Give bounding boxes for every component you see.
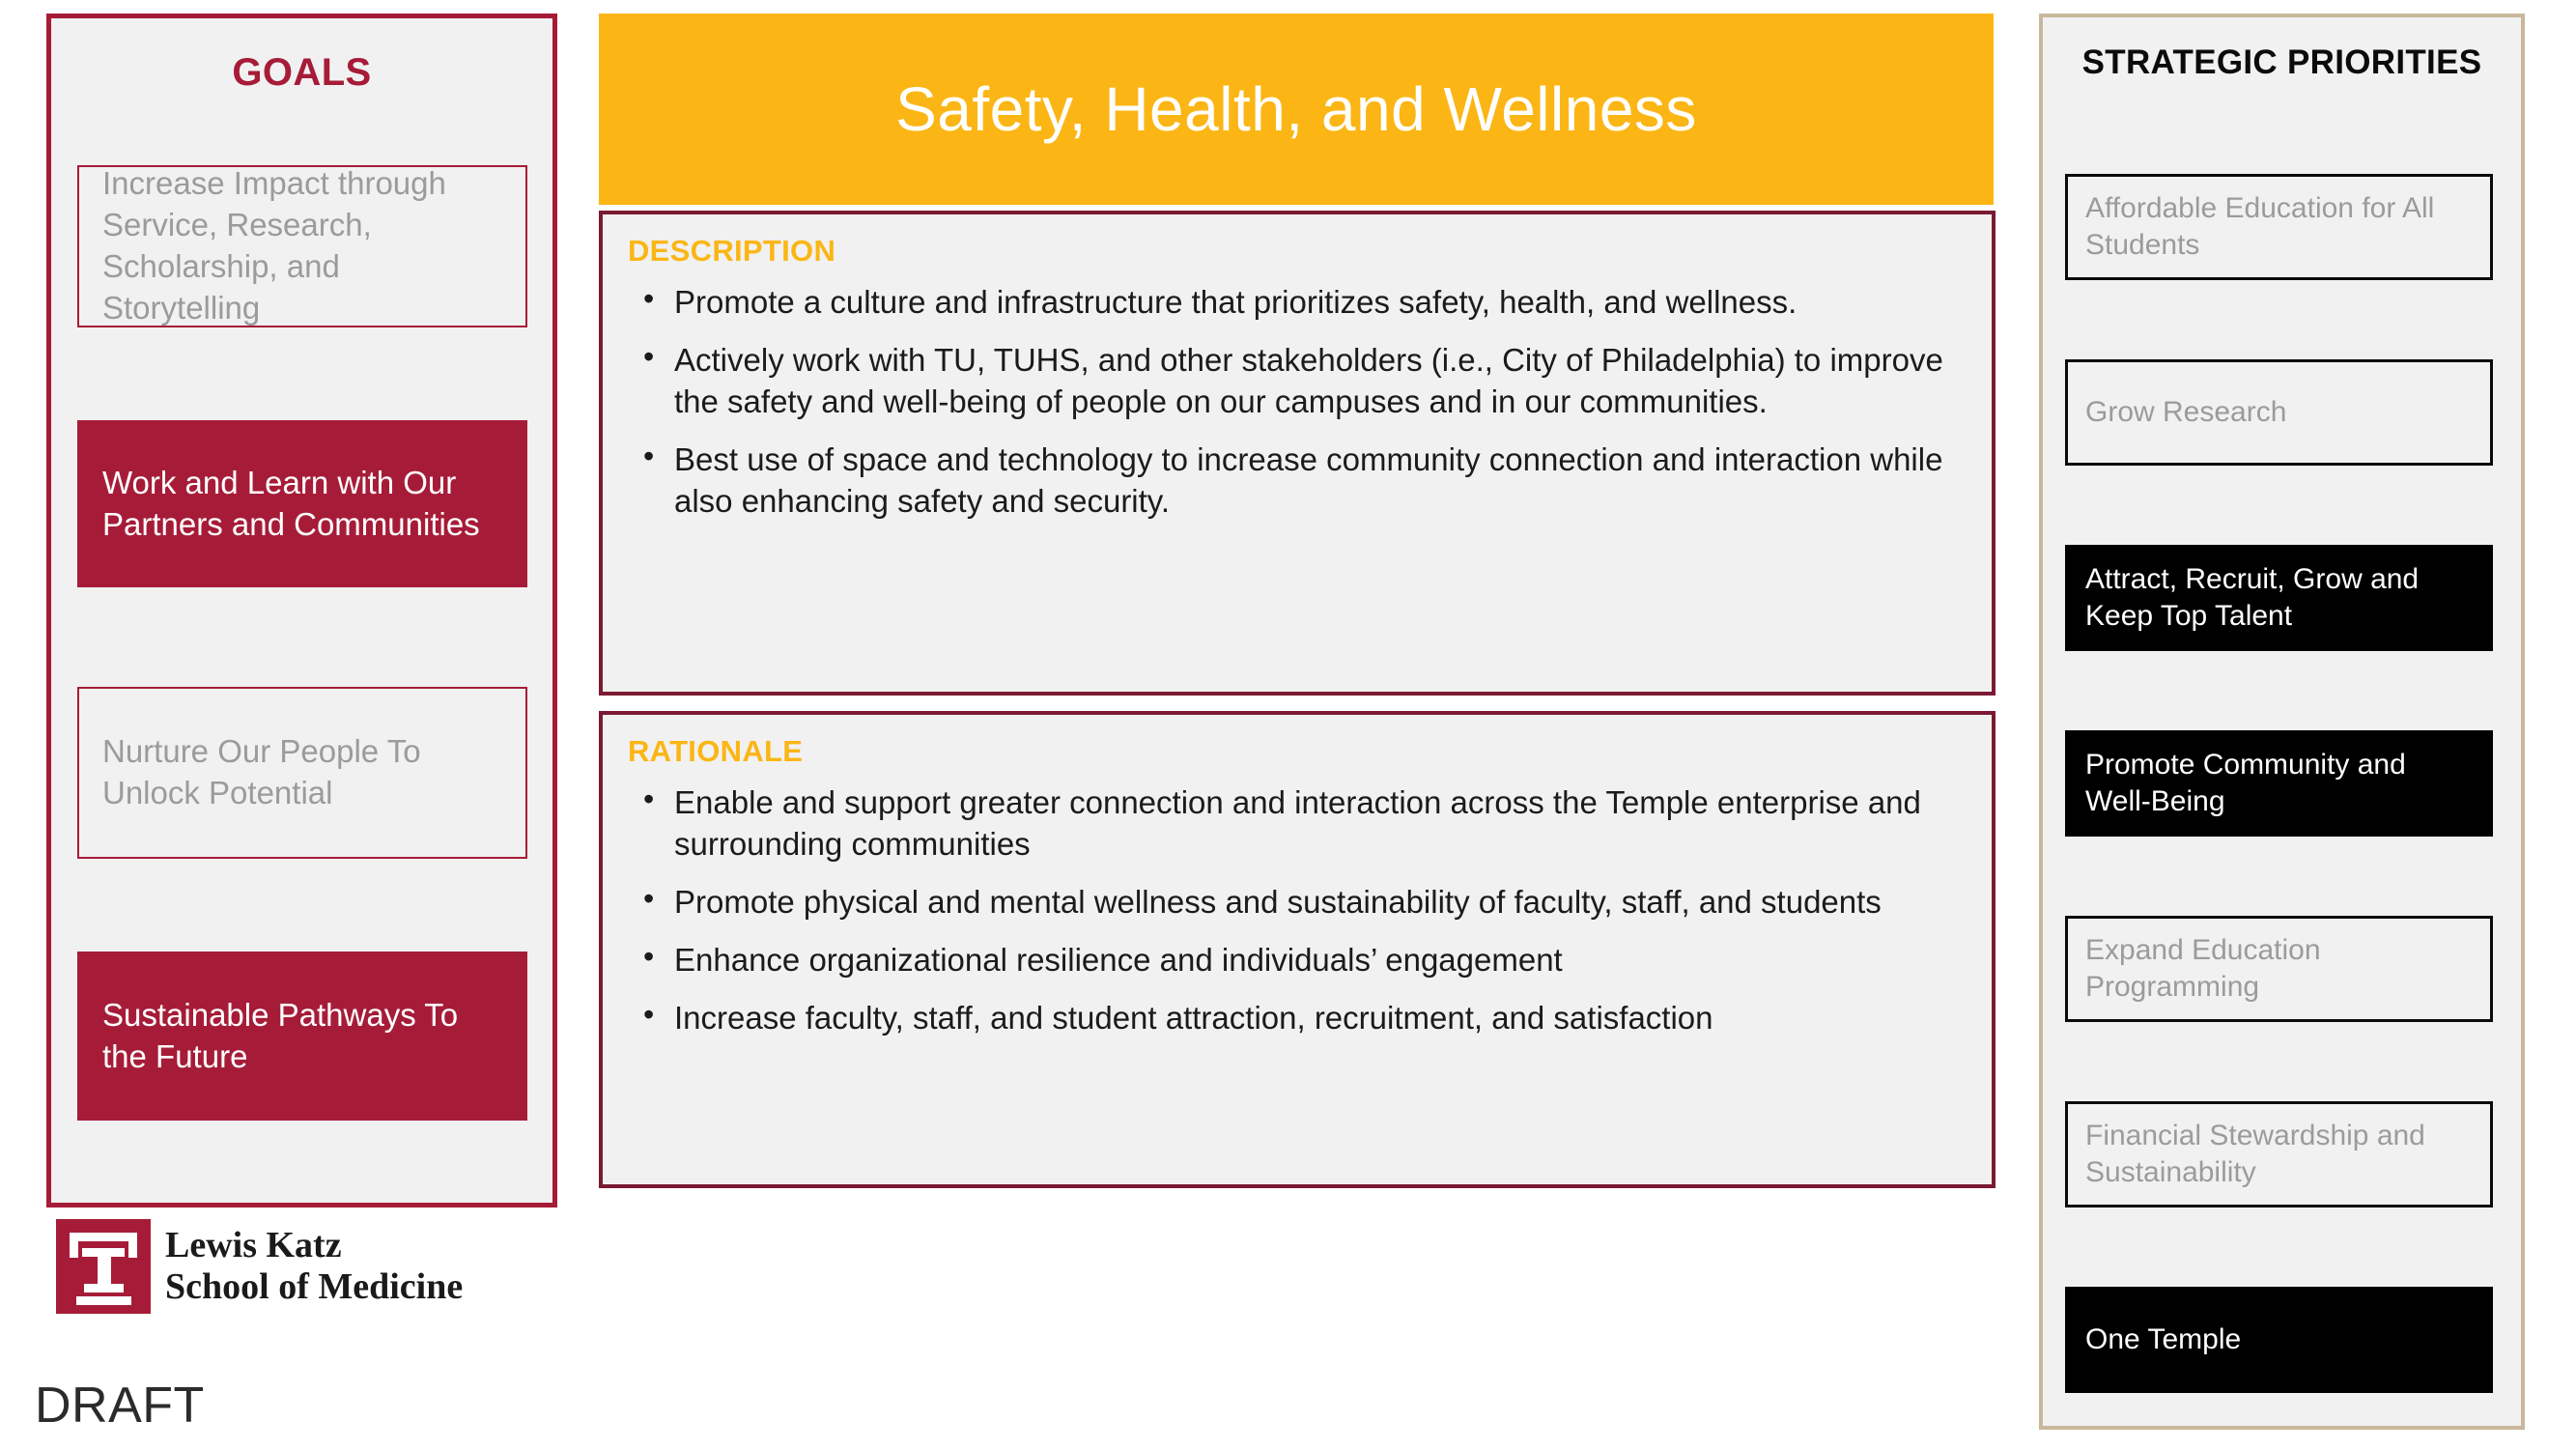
priority-item-promote-community-and-well-being[interactable]: Promote Community and Well-Being [2065, 730, 2493, 837]
rationale-bullet: Promote physical and mental wellness and… [628, 882, 1967, 923]
strategic-priorities-title: STRATEGIC PRIORITIES [2043, 42, 2521, 84]
priority-item-label: Grow Research [2085, 394, 2286, 431]
description-bullet: Best use of space and technology to incr… [628, 440, 1967, 523]
description-card: DESCRIPTION Promote a culture and infras… [599, 211, 1996, 696]
slide-canvas: GOALS Increase Impact through Service, R… [0, 0, 2576, 1449]
slide-title-banner: Safety, Health, and Wellness [599, 14, 1994, 205]
logo-wordmark-line1: Lewis Katz [165, 1225, 463, 1266]
description-bullet: Promote a culture and infrastructure tha… [628, 282, 1967, 324]
priority-item-one-temple[interactable]: One Temple [2065, 1287, 2493, 1393]
description-bullet: Actively work with TU, TUHS, and other s… [628, 340, 1967, 423]
rationale-bullet-list: Enable and support greater connection an… [628, 782, 1967, 1038]
priority-item-label: Affordable Education for All Students [2085, 190, 2473, 265]
goal-item-sustainable-pathways[interactable]: Sustainable Pathways To the Future [77, 952, 527, 1121]
logo-wordmark-line2: School of Medicine [165, 1266, 463, 1308]
priority-item-financial-stewardship-and-sustainability[interactable]: Financial Stewardship and Sustainability [2065, 1101, 2493, 1207]
lewis-katz-school-of-medicine-logo: Lewis Katz School of Medicine [56, 1219, 463, 1314]
page-title: Safety, Health, and Wellness [895, 73, 1697, 145]
rationale-bullet: Enable and support greater connection an… [628, 782, 1967, 866]
goals-panel: GOALS Increase Impact through Service, R… [46, 14, 557, 1207]
priority-item-label: One Temple [2085, 1321, 2241, 1358]
priority-item-label: Expand Education Programming [2085, 932, 2473, 1007]
priority-item-label: Attract, Recruit, Grow and Keep Top Tale… [2085, 561, 2473, 636]
goal-item-nurture-our-people[interactable]: Nurture Our People To Unlock Potential [77, 687, 527, 859]
priority-item-grow-research[interactable]: Grow Research [2065, 359, 2493, 466]
priority-item-affordable-education[interactable]: Affordable Education for All Students [2065, 174, 2493, 280]
description-heading: DESCRIPTION [628, 234, 1967, 269]
goal-item-label: Sustainable Pathways To the Future [102, 995, 504, 1078]
rationale-bullet: Increase faculty, staff, and student att… [628, 998, 1967, 1039]
goal-item-increase-impact[interactable]: Increase Impact through Service, Researc… [77, 165, 527, 327]
priority-item-attract-recruit-grow-keep-top-talent[interactable]: Attract, Recruit, Grow and Keep Top Tale… [2065, 545, 2493, 651]
goal-item-work-and-learn-with-partners[interactable]: Work and Learn with Our Partners and Com… [77, 420, 527, 587]
draft-label: DRAFT [35, 1377, 205, 1435]
strategic-priorities-panel: STRATEGIC PRIORITIES Affordable Educatio… [2039, 14, 2525, 1430]
rationale-bullet: Enhance organizational resilience and in… [628, 940, 1967, 981]
logo-wordmark: Lewis Katz School of Medicine [165, 1225, 463, 1308]
rationale-card: RATIONALE Enable and support greater con… [599, 711, 1996, 1188]
priority-item-label: Promote Community and Well-Being [2085, 747, 2473, 821]
goal-item-label: Work and Learn with Our Partners and Com… [102, 463, 504, 546]
rationale-heading: RATIONALE [628, 734, 1967, 769]
temple-t-icon [56, 1219, 151, 1314]
description-bullet-list: Promote a culture and infrastructure tha… [628, 282, 1967, 522]
priority-item-label: Financial Stewardship and Sustainability [2085, 1118, 2473, 1192]
goals-panel-title: GOALS [51, 51, 552, 95]
priority-item-expand-education-programming[interactable]: Expand Education Programming [2065, 916, 2493, 1022]
goal-item-label: Increase Impact through Service, Researc… [102, 163, 504, 329]
goal-item-label: Nurture Our People To Unlock Potential [102, 731, 504, 814]
